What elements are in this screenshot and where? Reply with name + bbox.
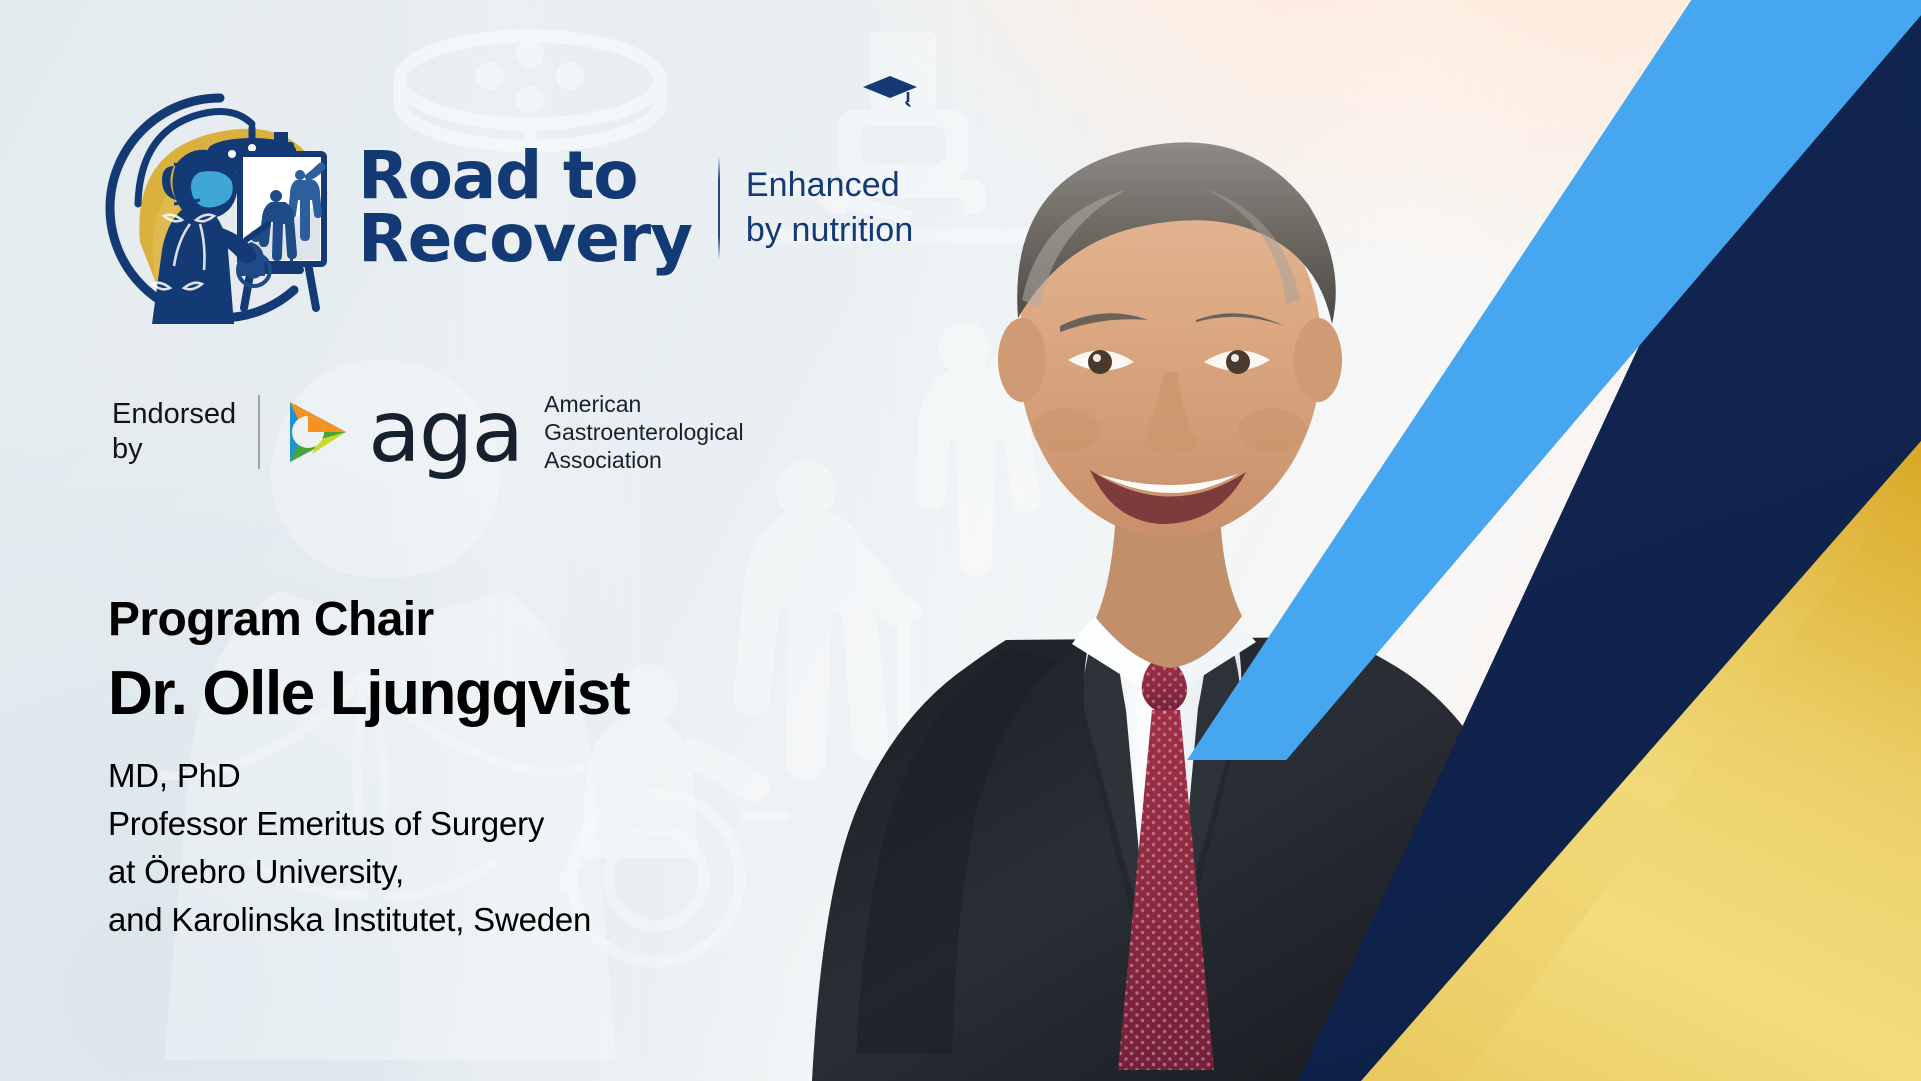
brand-name-line2: Recovery (358, 209, 692, 270)
credentials-line3: at Örebro University, (108, 848, 629, 896)
brand-name: Road to Recovery (358, 146, 692, 269)
aga-wordmark: aga (368, 398, 522, 467)
surgeon-painting-easel-icon (104, 92, 336, 324)
aga-name-line3: Association (544, 446, 743, 474)
endorsed-by-line1: Endorsed (112, 397, 236, 432)
speaker-name: Dr. Olle Ljungqvist (108, 660, 629, 728)
aga-logo[interactable]: aga American Gastroenterological Associa… (282, 390, 743, 474)
endorsed-by-line2: by (112, 432, 236, 467)
tagline-line2: by nutrition (746, 208, 914, 253)
credentials-line1: MD, PhD (108, 752, 629, 800)
credentials-line2: Professor Emeritus of Surgery (108, 800, 629, 848)
brand-tagline: Enhanced by nutrition (746, 163, 914, 253)
tagline-line1: Enhanced (746, 163, 914, 208)
speaker-info-block: Program Chair Dr. Olle Ljungqvist MD, Ph… (108, 595, 629, 943)
aga-name-line2: Gastroenterological (544, 418, 743, 446)
credentials-line4: and Karolinska Institutet, Sweden (108, 896, 629, 944)
aga-full-name: American Gastroenterological Association (544, 390, 743, 474)
graduation-cap-icon (861, 74, 919, 108)
aga-name-line1: American (544, 390, 743, 418)
aga-triangle-icon (282, 396, 354, 468)
brand-name-line1: Road to (358, 146, 692, 207)
endorsement-block: Endorsed by aga American Gastroenterolog… (112, 390, 744, 474)
promo-banner: Road to Recovery Enhanced by nutrition E… (0, 0, 1921, 1081)
endorsed-by-label: Endorsed by (112, 397, 236, 468)
wordmark-divider (718, 156, 720, 260)
speaker-role: Program Chair (108, 595, 629, 646)
brand-wordmark: Road to Recovery Enhanced by nutrition (358, 146, 913, 269)
endorsement-divider (258, 395, 260, 469)
speaker-credentials: MD, PhD Professor Emeritus of Surgery at… (108, 752, 629, 943)
brand-logo-lockup[interactable]: Road to Recovery Enhanced by nutrition (104, 92, 913, 324)
